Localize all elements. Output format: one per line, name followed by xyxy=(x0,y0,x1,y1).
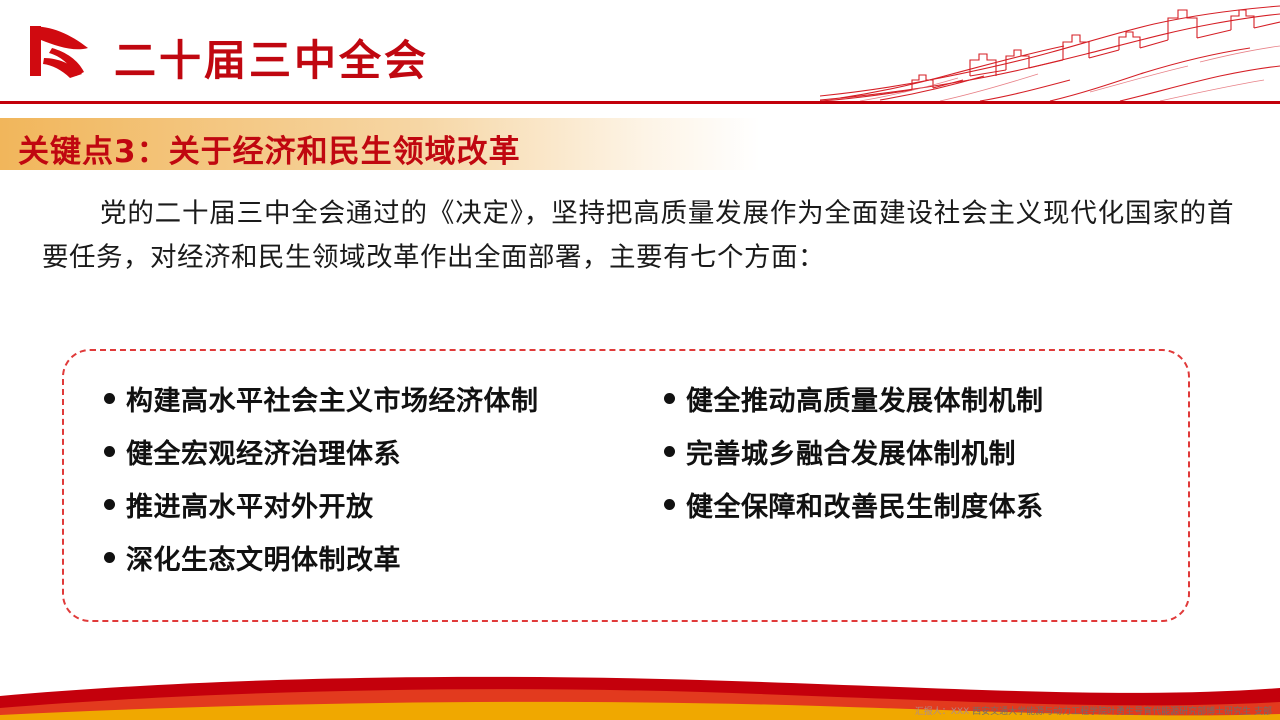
page-header: 二十届三中全会 xyxy=(0,0,1280,103)
list-item-label: 构建高水平社会主义市场经济体制 xyxy=(126,379,539,418)
header-divider xyxy=(0,101,1280,104)
list-item-label: 深化生态文明体制改革 xyxy=(126,538,401,577)
footer-note-prefix: 汇报人：XXX xyxy=(915,707,970,717)
list-item-label: 健全保障和改善民生制度体系 xyxy=(686,485,1044,524)
bullet-dot-icon xyxy=(104,499,115,510)
list-item-label: 健全推动高质量发展体制机制 xyxy=(686,379,1044,418)
bullet-dot-icon xyxy=(104,393,115,404)
bullet-dot-icon xyxy=(104,446,115,457)
list-item: 健全保障和改善民生制度体系 xyxy=(664,485,1184,524)
body-paragraph: 党的二十届三中全会通过的《决定》，坚持把高质量发展作为全面建设社会主义现代化国家… xyxy=(42,192,1234,280)
key-points-list: 构建高水平社会主义市场经济体制 健全推动高质量发展体制机制 健全宏观经济治理体系… xyxy=(104,372,1184,584)
list-item: 健全推动高质量发展体制机制 xyxy=(664,379,1184,418)
page-footer: 汇报人：XXX 西安交通大学能源与动力工程学院叶勇生号育代能源研究部博士研究生 … xyxy=(0,636,1280,720)
list-item-label: 完善城乡融合发展体制机制 xyxy=(686,432,1016,471)
great-wall-illustration-icon xyxy=(820,0,1280,101)
party-emblem-hammer-sickle-icon xyxy=(22,18,98,84)
bullet-dot-icon xyxy=(664,499,675,510)
bullet-dot-icon xyxy=(664,393,675,404)
footer-note: 汇报人：XXX 西安交通大学能源与动力工程学院叶勇生号育代能源研究部博士研究生 … xyxy=(915,704,1272,717)
bullet-dot-icon xyxy=(664,446,675,457)
page-title: 二十届三中全会 xyxy=(114,27,429,88)
footer-note-text: 西安交通大学能源与动力工程学院叶勇生号育代能源研究部博士研究生 支部 xyxy=(972,707,1272,717)
bullet-dot-icon xyxy=(104,552,115,563)
list-item: 健全宏观经济治理体系 xyxy=(104,432,664,471)
section-title: 关键点3：关于经济和民生领域改革 xyxy=(18,126,521,171)
list-item: 推进高水平对外开放 xyxy=(104,485,664,524)
list-item-label: 健全宏观经济治理体系 xyxy=(126,432,401,471)
list-item-label: 推进高水平对外开放 xyxy=(126,485,374,524)
list-item: 完善城乡融合发展体制机制 xyxy=(664,432,1184,471)
list-item: 深化生态文明体制改革 xyxy=(104,538,664,577)
list-item: 构建高水平社会主义市场经济体制 xyxy=(104,379,664,418)
